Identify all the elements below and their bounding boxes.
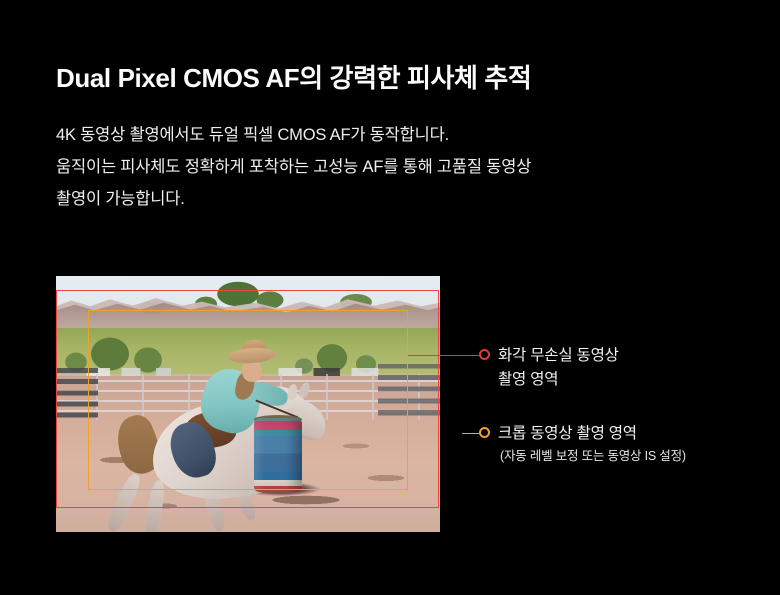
body-line-1: 4K 동영상 촬영에서도 듀얼 픽셀 CMOS AF가 동작합니다. — [56, 119, 716, 151]
page-title: Dual Pixel CMOS AF의 강력한 피사체 추적 — [56, 58, 531, 95]
body-copy: 4K 동영상 촬영에서도 듀얼 픽셀 CMOS AF가 동작합니다. 움직이는 … — [56, 119, 716, 215]
rider-head — [242, 360, 262, 382]
callout-full-frame-line-2: 촬영 영역 — [498, 368, 619, 392]
marker-full-frame-icon — [479, 349, 490, 360]
promo-page: Dual Pixel CMOS AF의 강력한 피사체 추적 4K 동영상 촬영… — [0, 0, 780, 595]
photo-canvas — [56, 276, 440, 532]
body-line-3: 촬영이 가능합니다. — [56, 183, 716, 215]
callout-full-frame-line-1: 화각 무손실 동영상 — [498, 344, 619, 368]
fence-panel-left — [56, 368, 98, 430]
racing-barrel — [254, 418, 302, 492]
callout-crop-frame: 크롭 동영상 촬영 영역 (자동 레벨 보정 또는 동영상 IS 설정) — [498, 422, 686, 466]
sample-photo — [56, 276, 440, 532]
callout-crop-frame-note: (자동 레벨 보정 또는 동영상 IS 설정) — [498, 446, 686, 466]
leader-line-full-frame — [408, 355, 480, 357]
marker-crop-frame-icon — [479, 427, 490, 438]
callout-crop-frame-line-1: 크롭 동영상 촬영 영역 — [498, 422, 686, 446]
callout-full-frame: 화각 무손실 동영상 촬영 영역 — [498, 344, 619, 392]
fence-panel-right — [378, 364, 440, 430]
body-line-2: 움직이는 피사체도 정확하게 포착하는 고성능 AF를 통해 고품질 동영상 — [56, 151, 716, 183]
